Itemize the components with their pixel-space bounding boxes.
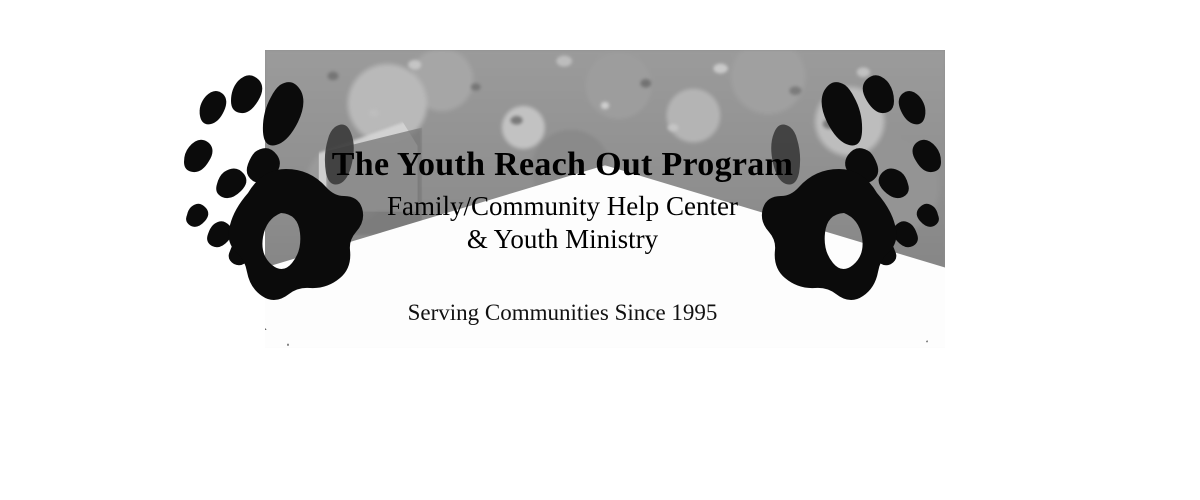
organization-subtitle-line-2: & Youth Ministry xyxy=(175,223,950,256)
organization-subtitle-line-1: Family/Community Help Center xyxy=(175,190,950,223)
banner-text-block: The Youth Reach Out Program Family/Commu… xyxy=(175,148,950,256)
organization-banner: The Youth Reach Out Program Family/Commu… xyxy=(175,43,950,348)
organization-tagline: Serving Communities Since 1995 xyxy=(175,300,950,326)
organization-title: The Youth Reach Out Program xyxy=(175,148,950,182)
